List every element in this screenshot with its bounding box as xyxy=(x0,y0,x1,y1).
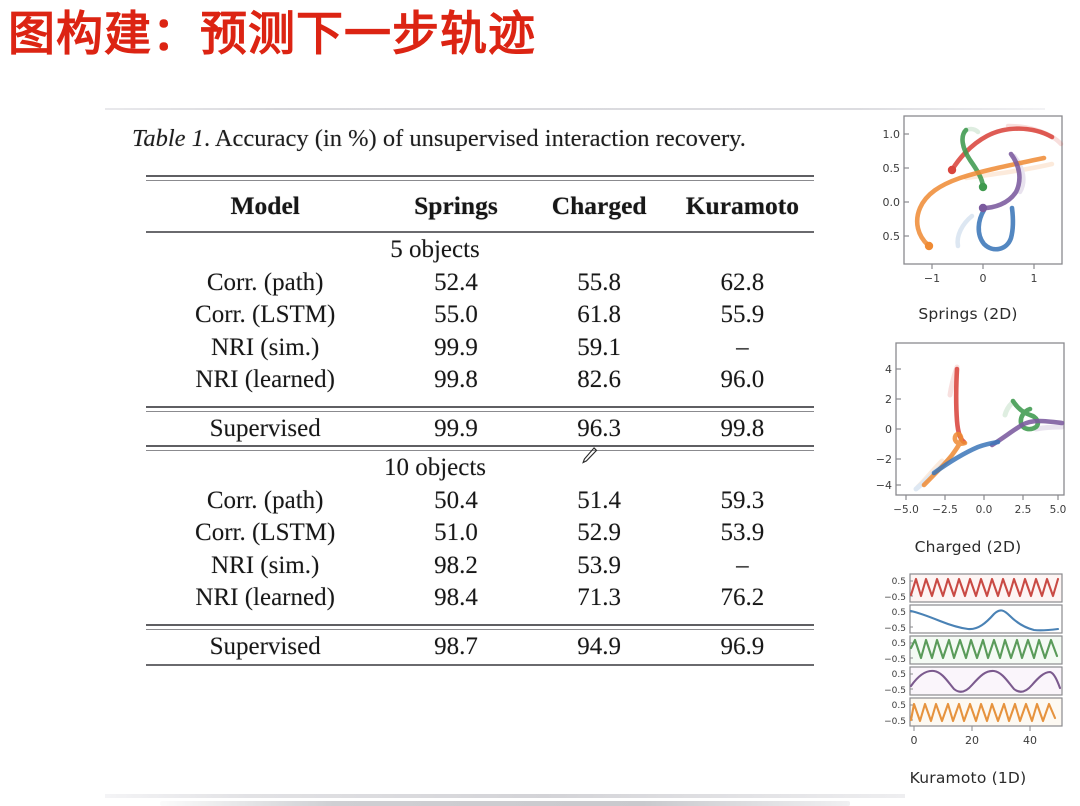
figure-caption-springs: Springs (2D) xyxy=(856,305,1080,323)
accuracy-table: Model Springs Charged Kuramoto 5 objects… xyxy=(146,175,814,667)
pen-cursor-icon xyxy=(578,445,600,467)
row-label: Supervised xyxy=(146,413,384,446)
svg-text:−0.5: −0.5 xyxy=(884,655,906,665)
row-label: NRI (learned) xyxy=(146,582,384,615)
svg-text:−2: −2 xyxy=(876,453,892,466)
table-caption-text: . Accuracy (in %) of unsupervised intera… xyxy=(204,125,746,152)
cell-kuramoto: – xyxy=(671,550,814,583)
content-top-rule xyxy=(105,108,1045,110)
cell-springs: 99.9 xyxy=(384,332,527,365)
section-heading-5-objects: 5 objects xyxy=(146,234,814,267)
table-caption: Table 1. Accuracy (in %) of unsupervised… xyxy=(132,125,800,153)
row-label: NRI (sim.) xyxy=(146,550,384,583)
svg-text:0.5: 0.5 xyxy=(892,608,906,618)
table-header-rule xyxy=(146,230,814,234)
cell-charged: 96.3 xyxy=(528,413,671,446)
column-header-springs: Springs xyxy=(384,182,527,230)
section-heading-10-objects: 10 objects xyxy=(146,452,814,485)
row-label: NRI (sim.) xyxy=(146,332,384,365)
cell-charged: 51.4 xyxy=(528,485,671,518)
figure-column: 1.0 0.5 0.0 0.5 −1 0 1 xyxy=(856,112,1080,793)
spacer xyxy=(146,615,814,624)
svg-text:−0.5: −0.5 xyxy=(884,624,906,634)
table-header-row: Model Springs Charged Kuramoto xyxy=(146,182,814,230)
svg-text:0.5: 0.5 xyxy=(892,639,906,649)
cell-kuramoto: 62.8 xyxy=(671,267,814,300)
svg-text:−0.5: −0.5 xyxy=(884,593,906,603)
column-header-model: Model xyxy=(146,182,384,230)
svg-text:0.5: 0.5 xyxy=(892,670,906,680)
charged-plot: 4 2 0 −2 −4 −5.0 −2.5 0.0 2.5 xyxy=(856,337,1080,537)
table-top-rule xyxy=(146,175,814,182)
column-header-charged: Charged xyxy=(528,182,671,230)
table-row: Corr. (LSTM) 55.0 61.8 55.9 xyxy=(146,299,814,332)
svg-text:0: 0 xyxy=(911,734,918,747)
row-label: Supervised xyxy=(146,631,384,664)
spacer xyxy=(146,397,814,406)
table-row: Corr. (LSTM) 51.0 52.9 53.9 xyxy=(146,517,814,550)
cell-springs: 51.0 xyxy=(384,517,527,550)
table-rule xyxy=(146,624,814,631)
table-row: NRI (sim.) 98.2 53.9 – xyxy=(146,550,814,583)
springs-plot: 1.0 0.5 0.0 0.5 −1 0 1 xyxy=(856,112,1080,304)
svg-text:2: 2 xyxy=(885,393,892,406)
svg-text:1: 1 xyxy=(1031,272,1038,285)
page-title: 图构建：预测下一步轨迹 xyxy=(8,10,536,59)
row-label: Corr. (LSTM) xyxy=(146,517,384,550)
row-label: Corr. (LSTM) xyxy=(146,299,384,332)
cell-kuramoto: 53.9 xyxy=(671,517,814,550)
figure-charged: 4 2 0 −2 −4 −5.0 −2.5 0.0 2.5 xyxy=(856,337,1080,556)
table-row: NRI (learned) 98.4 71.3 76.2 xyxy=(146,582,814,615)
svg-text:1.0: 1.0 xyxy=(883,128,901,141)
svg-text:5.0: 5.0 xyxy=(1050,504,1067,516)
svg-text:−0.5: −0.5 xyxy=(884,717,906,727)
cell-kuramoto: 99.8 xyxy=(671,413,814,446)
cell-springs: 98.2 xyxy=(384,550,527,583)
svg-text:0: 0 xyxy=(885,423,892,436)
section-heading-row: 5 objects xyxy=(146,234,814,267)
svg-text:4: 4 xyxy=(885,363,892,376)
cell-springs: 99.8 xyxy=(384,364,527,397)
table-mid-rule xyxy=(146,406,814,413)
table-row-supervised: Supervised 99.9 96.3 99.8 xyxy=(146,413,814,446)
row-label: Corr. (path) xyxy=(146,267,384,300)
cell-springs: 50.4 xyxy=(384,485,527,518)
cell-springs: 98.4 xyxy=(384,582,527,615)
table-row: Corr. (path) 50.4 51.4 59.3 xyxy=(146,485,814,518)
kuramoto-plot: 0.5−0.5 0.5−0.5 0.5−0.5 0.5−0.5 0.5−0.5 … xyxy=(856,568,1080,768)
cell-charged: 52.9 xyxy=(528,517,671,550)
cell-kuramoto: – xyxy=(671,332,814,365)
cell-kuramoto: 59.3 xyxy=(671,485,814,518)
cell-charged: 55.8 xyxy=(528,267,671,300)
cell-springs: 98.7 xyxy=(384,631,527,664)
table-caption-label: Table 1 xyxy=(132,125,204,152)
figure-caption-charged: Charged (2D) xyxy=(856,538,1080,556)
svg-text:0: 0 xyxy=(980,272,987,285)
cell-springs: 52.4 xyxy=(384,267,527,300)
table-row: NRI (sim.) 99.9 59.1 – xyxy=(146,332,814,365)
slide-bottom-shadow xyxy=(160,801,850,806)
svg-text:−4: −4 xyxy=(876,479,892,492)
cell-charged: 53.9 xyxy=(528,550,671,583)
row-label: Corr. (path) xyxy=(146,485,384,518)
table-row: NRI (learned) 99.8 82.6 96.0 xyxy=(146,364,814,397)
figure-kuramoto: 0.5−0.5 0.5−0.5 0.5−0.5 0.5−0.5 0.5−0.5 … xyxy=(856,568,1080,787)
cell-kuramoto: 96.9 xyxy=(671,631,814,664)
svg-text:0.5: 0.5 xyxy=(883,162,901,175)
section-heading-row: 10 objects xyxy=(146,452,814,485)
cell-springs: 55.0 xyxy=(384,299,527,332)
cell-kuramoto: 76.2 xyxy=(671,582,814,615)
svg-text:0.5: 0.5 xyxy=(883,230,901,243)
svg-text:−2.5: −2.5 xyxy=(932,504,958,516)
results-table-block: Table 1. Accuracy (in %) of unsupervised… xyxy=(120,125,800,667)
svg-text:20: 20 xyxy=(965,734,979,747)
table-rule xyxy=(146,445,814,452)
table-bottom-rule xyxy=(146,663,814,667)
cell-charged: 71.3 xyxy=(528,582,671,615)
cell-springs: 99.9 xyxy=(384,413,527,446)
cell-kuramoto: 96.0 xyxy=(671,364,814,397)
svg-text:0.5: 0.5 xyxy=(892,701,906,711)
figure-springs: 1.0 0.5 0.0 0.5 −1 0 1 xyxy=(856,112,1080,323)
svg-text:0.5: 0.5 xyxy=(892,577,906,587)
cell-kuramoto: 55.9 xyxy=(671,299,814,332)
column-header-kuramoto: Kuramoto xyxy=(671,182,814,230)
svg-text:2.5: 2.5 xyxy=(1015,504,1032,516)
cell-charged: 94.9 xyxy=(528,631,671,664)
cell-charged: 59.1 xyxy=(528,332,671,365)
row-label: NRI (learned) xyxy=(146,364,384,397)
figure-caption-kuramoto: Kuramoto (1D) xyxy=(856,769,1080,787)
svg-text:−1: −1 xyxy=(924,272,940,285)
svg-text:0.0: 0.0 xyxy=(883,196,901,209)
cell-charged: 61.8 xyxy=(528,299,671,332)
slide-bottom-edge xyxy=(105,794,905,798)
svg-text:−0.5: −0.5 xyxy=(884,686,906,696)
table-row-supervised: Supervised 98.7 94.9 96.9 xyxy=(146,631,814,664)
cell-charged: 82.6 xyxy=(528,364,671,397)
svg-text:0.0: 0.0 xyxy=(976,504,993,516)
svg-text:40: 40 xyxy=(1023,734,1037,747)
table-row: Corr. (path) 52.4 55.8 62.8 xyxy=(146,267,814,300)
svg-text:−5.0: −5.0 xyxy=(893,504,919,516)
